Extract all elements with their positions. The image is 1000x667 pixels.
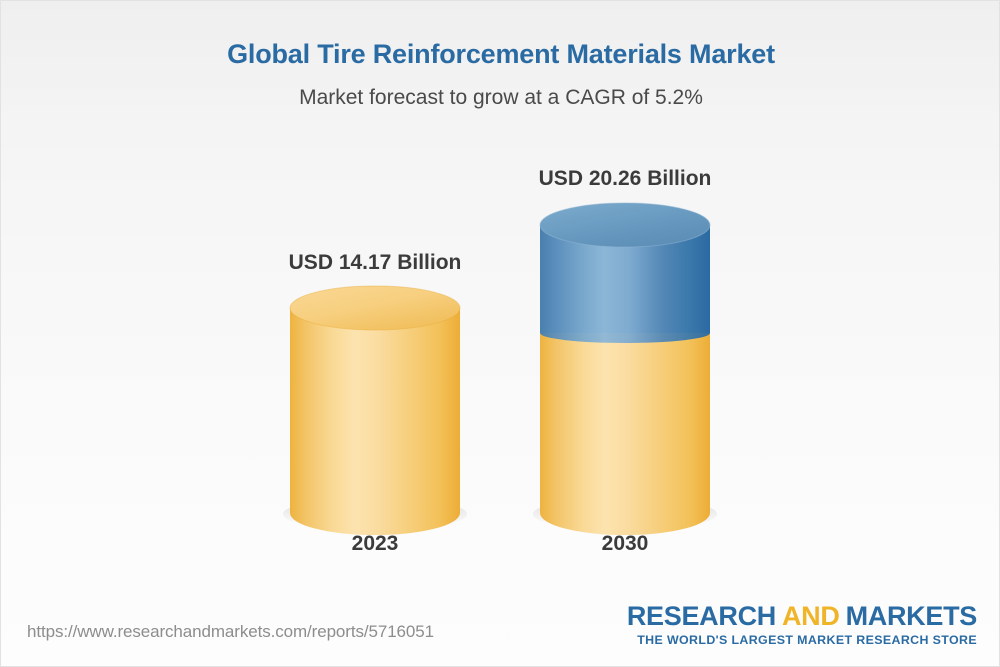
category-label-2023: 2023	[255, 532, 495, 556]
bar-value-label-2030: USD 20.26 Billion	[505, 167, 745, 191]
logo-word-and: AND	[782, 601, 840, 631]
bar-cylinder-2023[interactable]	[290, 286, 460, 513]
bar-cylinder-2030[interactable]	[540, 203, 710, 513]
cylinder-body	[290, 308, 460, 535]
chart-plot-area: USD 14.17 Billion	[1, 1, 1000, 667]
report-url[interactable]: https://www.researchandmarkets.com/repor…	[27, 622, 434, 642]
researchandmarkets-logo[interactable]: RESEARCHANDMARKETS THE WORLD'S LARGEST M…	[627, 601, 977, 648]
logo-tagline: THE WORLD'S LARGEST MARKET RESEARCH STOR…	[627, 632, 977, 648]
logo-wordmark: RESEARCHANDMARKETS	[627, 601, 977, 631]
logo-word-research: RESEARCH	[627, 601, 776, 631]
bar-value-label-2023: USD 14.17 Billion	[255, 251, 495, 275]
bar-cylinder-2030-shape	[540, 203, 710, 535]
logo-word-markets: MARKETS	[846, 601, 977, 631]
cylinder-segment-base	[540, 333, 710, 535]
category-label-2030: 2030	[505, 532, 745, 556]
bar-cylinder-2023-shape	[290, 286, 460, 535]
infographic-canvas: Global Tire Reinforcement Materials Mark…	[0, 0, 1000, 667]
